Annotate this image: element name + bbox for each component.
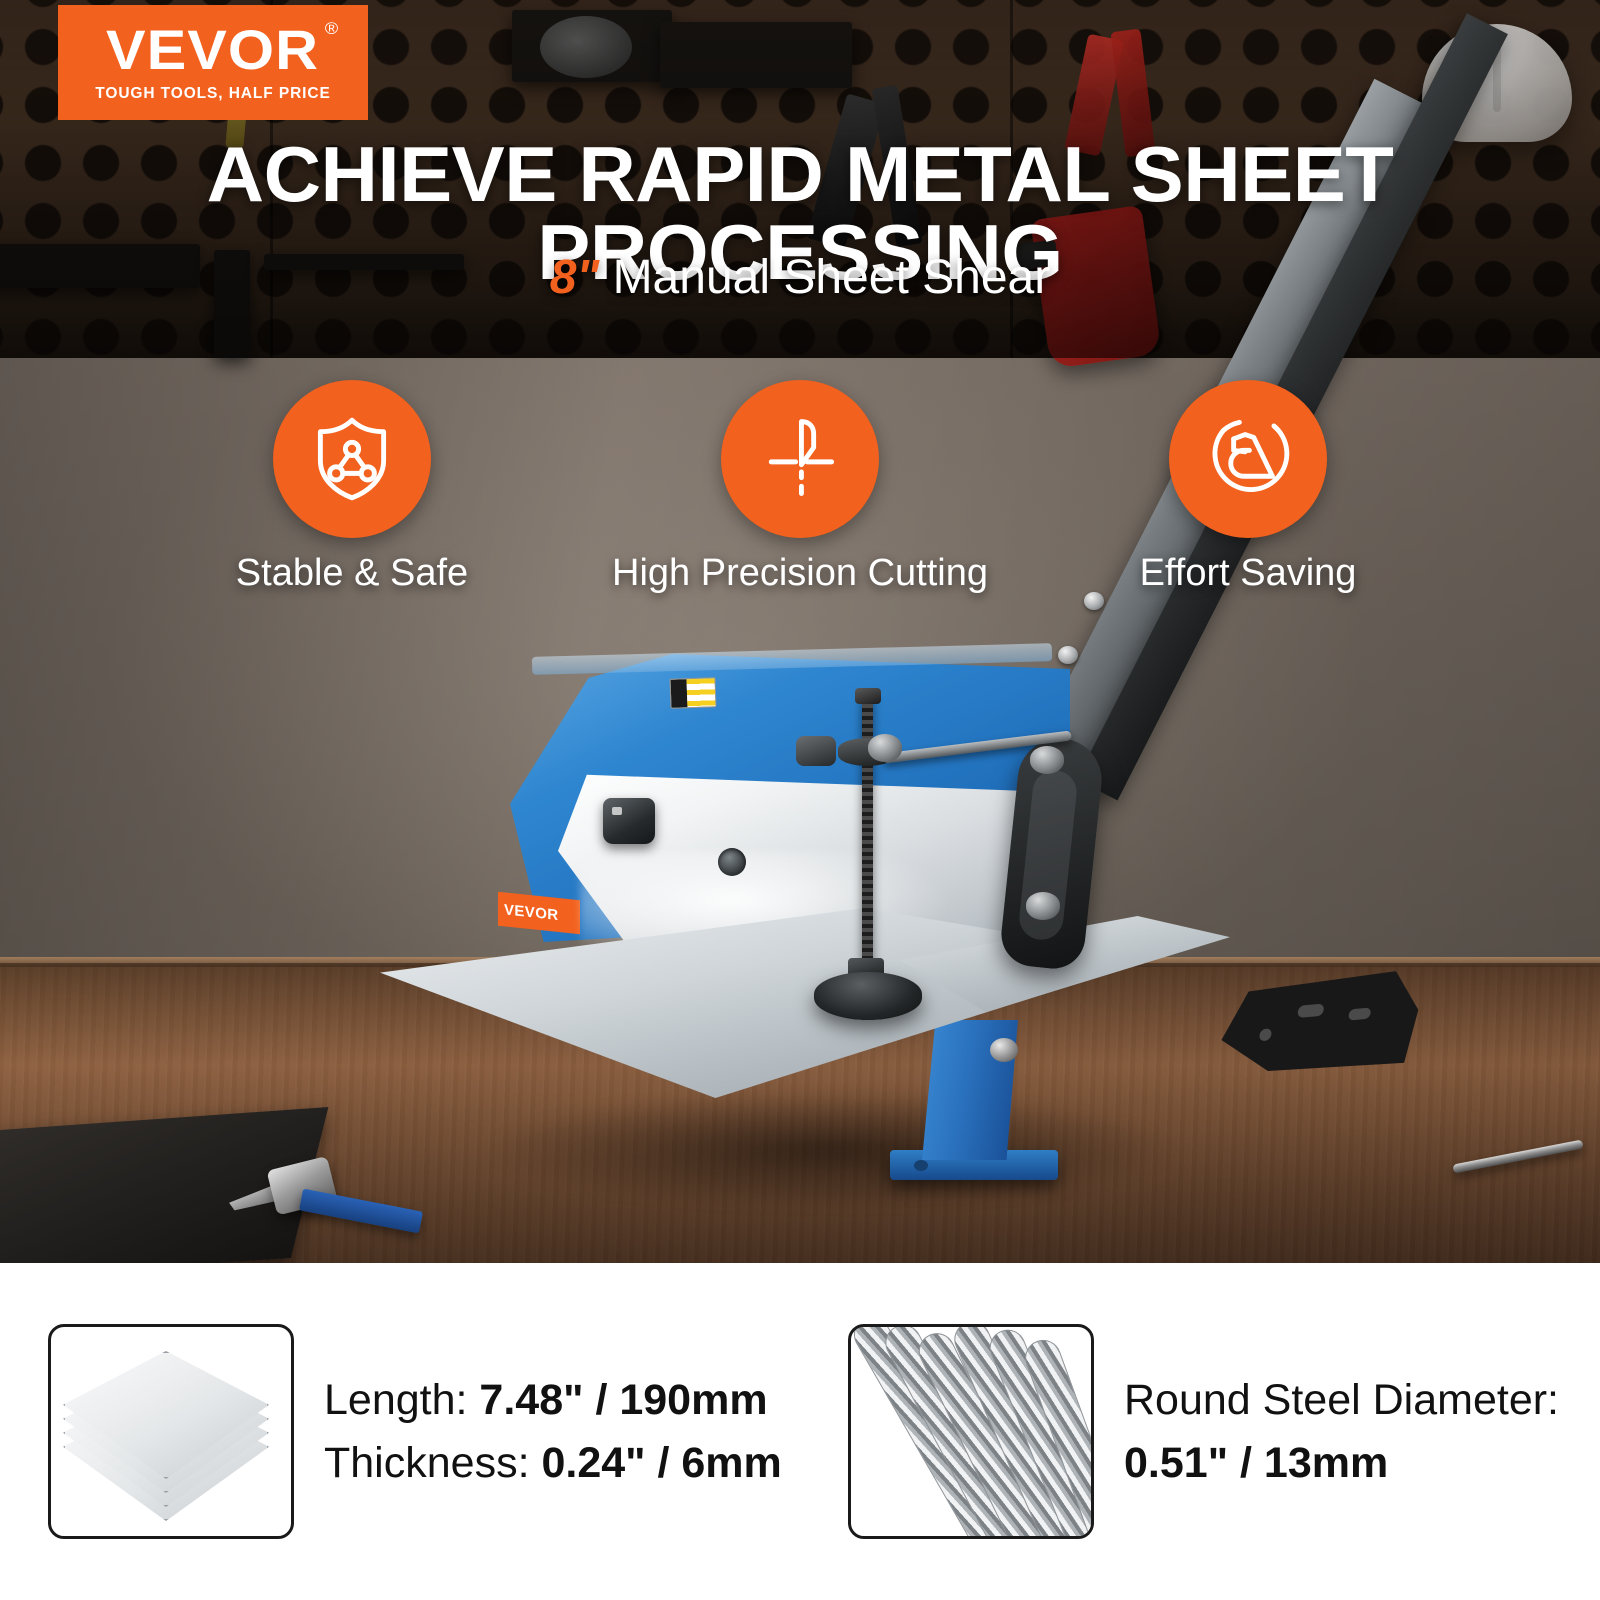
logo-tagline: TOUGH TOOLS, HALF PRICE [95, 85, 330, 103]
spec-label: Round Steel Diameter: [1124, 1376, 1559, 1424]
subheadline: 8" Manual Sheet Shear [0, 250, 1600, 305]
feature-high-precision-cutting: High Precision Cutting [635, 380, 965, 600]
lever-rivet [1058, 646, 1078, 664]
shield-check-icon [306, 413, 398, 505]
spec-line-diameter-value: 0.51" / 13mm [1124, 1439, 1559, 1488]
spec-value: 0.24" / 6mm [541, 1439, 781, 1487]
spec-round-steel: Round Steel Diameter: 0.51" / 13mm [848, 1324, 1548, 1539]
pivot-pin [1030, 746, 1064, 774]
spec-text-lines: Length: 7.48" / 190mm Thickness: 0.24" /… [324, 1376, 782, 1488]
feature-icon-circle [273, 380, 431, 538]
feature-effort-saving: Effort Saving [1083, 380, 1413, 600]
plate-hole [718, 848, 746, 876]
machine-vevor-label: VEVOR [498, 892, 580, 935]
feature-label: Stable & Safe [236, 552, 468, 595]
registered-trademark-icon: ® [325, 20, 339, 37]
feature-label: High Precision Cutting [612, 552, 988, 595]
warning-sticker [669, 677, 716, 709]
column-bolt [990, 1038, 1018, 1062]
spec-label: Thickness: [324, 1439, 541, 1487]
sticker-text-area [687, 678, 716, 707]
spec-line-diameter-label: Round Steel Diameter: [1124, 1376, 1559, 1425]
spec-value: 7.48" / 190mm [479, 1376, 767, 1424]
stacked-metal-sheets-thumbnail [48, 1324, 294, 1539]
spec-value: 0.51" / 13mm [1124, 1439, 1388, 1487]
feature-label: Effort Saving [1140, 552, 1357, 595]
product-marketing-image: VEVOR VEVOR ® [0, 0, 1600, 1600]
feature-icon-circle [1169, 380, 1327, 538]
spec-sheet-metal: Length: 7.48" / 190mm Thickness: 0.24" /… [48, 1324, 848, 1539]
machine-shadow [480, 1090, 1180, 1210]
sticker-logo-area [671, 679, 688, 708]
logo-wordmark: VEVOR ® [106, 22, 319, 78]
feature-stable-safe: Stable & Safe [187, 380, 517, 600]
screw-wing-nut [796, 736, 836, 766]
specification-band: Length: 7.48" / 190mm Thickness: 0.24" /… [0, 1263, 1600, 1600]
spec-text-lines: Round Steel Diameter: 0.51" / 13mm [1124, 1376, 1559, 1488]
spec-line-length: Length: 7.48" / 190mm [324, 1376, 782, 1425]
rebar-bundle-graphic [855, 1333, 1093, 1538]
clamp-pressure-foot [814, 972, 922, 1020]
round-steel-rebar-thumbnail [848, 1324, 1094, 1539]
spec-line-thickness: Thickness: 0.24" / 6mm [324, 1439, 782, 1488]
plate-adjustment-knob [603, 798, 655, 844]
effort-saving-hand-icon [1202, 413, 1294, 505]
pivot-pin [868, 734, 902, 762]
spec-label: Length: [324, 1376, 479, 1424]
logo-word-text: VEVOR [106, 18, 319, 81]
vevor-logo: VEVOR ® TOUGH TOOLS, HALF PRICE [58, 5, 368, 120]
product-name-text: Manual Sheet Shear [599, 251, 1050, 304]
stacked-sheets-graphic [63, 1343, 285, 1528]
feature-icon-circle [721, 380, 879, 538]
product-size-value: 8" [550, 251, 599, 304]
precision-blade-icon [754, 413, 846, 505]
pivot-pin [1026, 892, 1060, 920]
screw-top-cap [855, 688, 881, 704]
hero-photo: VEVOR VEVOR ® [0, 0, 1600, 1263]
feature-badges: Stable & Safe High Precision Cutting [0, 380, 1600, 600]
manual-sheet-shear-machine: VEVOR [470, 620, 1210, 1240]
